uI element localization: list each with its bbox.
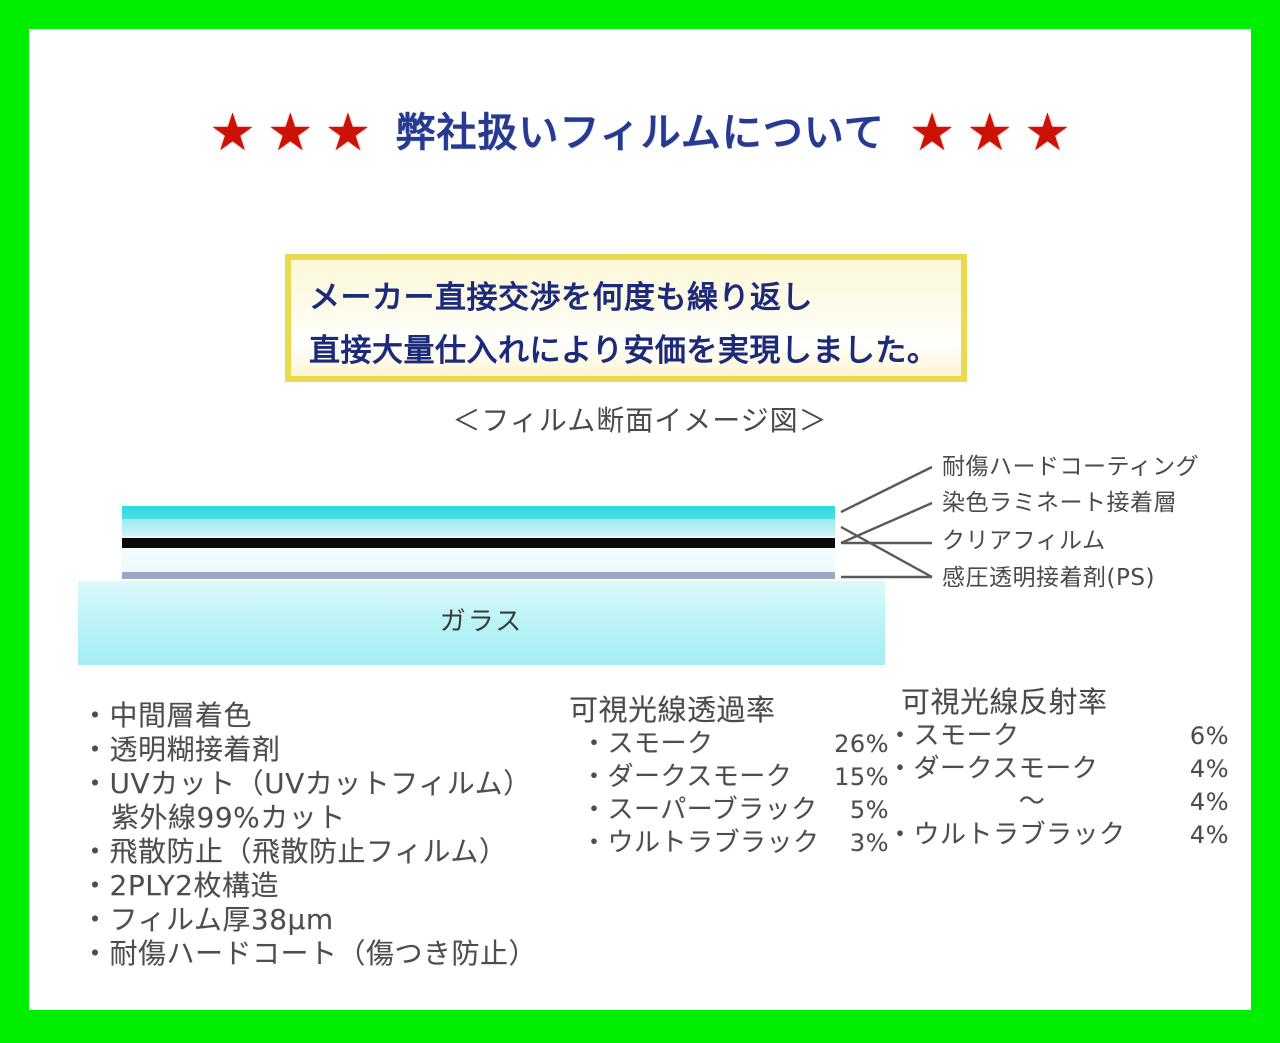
- spec-row: ・スーパーブラック 5%: [559, 794, 889, 827]
- feature-item: ・中間層着色: [81, 699, 601, 733]
- spec-name: ・ダークスモーク: [887, 753, 1098, 786]
- layer-label-clear-film: クリアフィルム: [942, 529, 1106, 554]
- spec-name: ・スモーク: [887, 720, 1020, 753]
- spec-row: ・ウルトラブラック 4%: [879, 819, 1229, 852]
- glass-label: ガラス: [78, 607, 885, 637]
- poster-root: ★ ★ ★ 弊社扱いフィルムについて ★ ★ ★ メーカー直接交渉を何度も繰り返…: [0, 0, 1280, 1043]
- callout-box: メーカー直接交渉を何度も繰り返し 直接大量仕入れにより安価を実現しました。: [285, 254, 967, 382]
- feature-item: ・飛散防止（飛散防止フィルム）: [81, 835, 601, 869]
- feature-item: ・フィルム厚38μm: [81, 903, 601, 937]
- spec-name: ・スーパーブラック: [581, 794, 818, 827]
- spec-title-reflectance: 可視光線反射率: [879, 684, 1229, 720]
- star-icon: ★: [1024, 107, 1071, 159]
- feature-item: ・2PLY2枚構造: [81, 869, 601, 903]
- feature-item: 紫外線99%カット: [81, 801, 601, 835]
- spec-value: 4%: [1190, 753, 1229, 786]
- stars-right: ★ ★ ★: [906, 107, 1074, 159]
- star-icon: ★: [325, 107, 372, 159]
- layer-band-hardcoat: [122, 506, 835, 519]
- spec-value: 4%: [1190, 819, 1229, 852]
- spec-name: ・ダークスモーク: [581, 761, 792, 794]
- content-panel: ★ ★ ★ 弊社扱いフィルムについて ★ ★ ★ メーカー直接交渉を何度も繰り返…: [29, 29, 1251, 1010]
- section-caption: ＜フィルム断面イメージ図＞: [29, 404, 1251, 438]
- star-icon: ★: [267, 107, 314, 159]
- layer-label-dye-laminate: 染色ラミネート接着層: [942, 491, 1177, 516]
- star-icon: ★: [209, 107, 256, 159]
- feature-item: ・UVカット（UVカットフィルム）: [81, 767, 601, 801]
- callout-line-1: メーカー直接交渉を何度も繰り返し: [309, 272, 943, 325]
- spec-value: 6%: [1190, 720, 1229, 753]
- layer-band-glass: [78, 581, 885, 665]
- layer-band-pressure-adhesive: [122, 572, 835, 579]
- bottom-columns: ・中間層着色 ・透明糊接着剤 ・UVカット（UVカットフィルム） 紫外線99%カ…: [29, 684, 1251, 1004]
- spec-value: 4%: [1190, 786, 1229, 819]
- spec-row: ・スモーク 26%: [559, 728, 889, 761]
- spec-row: ・スモーク 6%: [879, 720, 1229, 753]
- feature-item: ・耐傷ハードコート（傷つき防止）: [81, 937, 601, 971]
- spec-table-transmittance: 可視光線透過率 ・スモーク 26% ・ダークスモーク 15% ・スーパーブラック…: [559, 692, 889, 860]
- star-icon: ★: [909, 107, 956, 159]
- spec-name: ・スモーク: [581, 728, 714, 761]
- page-title-text: 弊社扱いフィルムについて: [395, 107, 884, 159]
- layer-band-gap-lower: [122, 548, 835, 572]
- spec-row: ・ダークスモーク 15%: [559, 761, 889, 794]
- stars-left: ★ ★ ★: [206, 107, 374, 159]
- layer-band-dye-laminate: [122, 519, 835, 536]
- callout-line-2: 直接大量仕入れにより安価を実現しました。: [309, 325, 943, 378]
- feature-list: ・中間層着色 ・透明糊接着剤 ・UVカット（UVカットフィルム） 紫外線99%カ…: [81, 699, 601, 971]
- spec-name: ・ウルトラブラック: [887, 819, 1126, 852]
- spec-table-reflectance: 可視光線反射率 ・スモーク 6% ・ダークスモーク 4% 〜 4% ・ウルトラブ…: [879, 684, 1229, 852]
- spec-name: ・ウルトラブラック: [581, 827, 820, 860]
- page-title: ★ ★ ★ 弊社扱いフィルムについて ★ ★ ★: [29, 107, 1251, 159]
- star-icon: ★: [966, 107, 1013, 159]
- spec-title-transmittance: 可視光線透過率: [559, 692, 889, 728]
- layer-label-pressure-adhesive: 感圧透明接着剤(PS): [942, 566, 1155, 591]
- spec-row: ・ウルトラブラック 3%: [559, 827, 889, 860]
- layer-band-clear-film: [122, 538, 835, 548]
- spec-name: 〜: [1019, 786, 1046, 819]
- feature-item: ・透明糊接着剤: [81, 733, 601, 767]
- layer-label-hardcoat: 耐傷ハードコーティング: [942, 455, 1199, 480]
- layer-band-gap-upper: [122, 536, 835, 538]
- spec-row: ・ダークスモーク 4%: [879, 753, 1229, 786]
- spec-row: 〜 4%: [879, 786, 1229, 819]
